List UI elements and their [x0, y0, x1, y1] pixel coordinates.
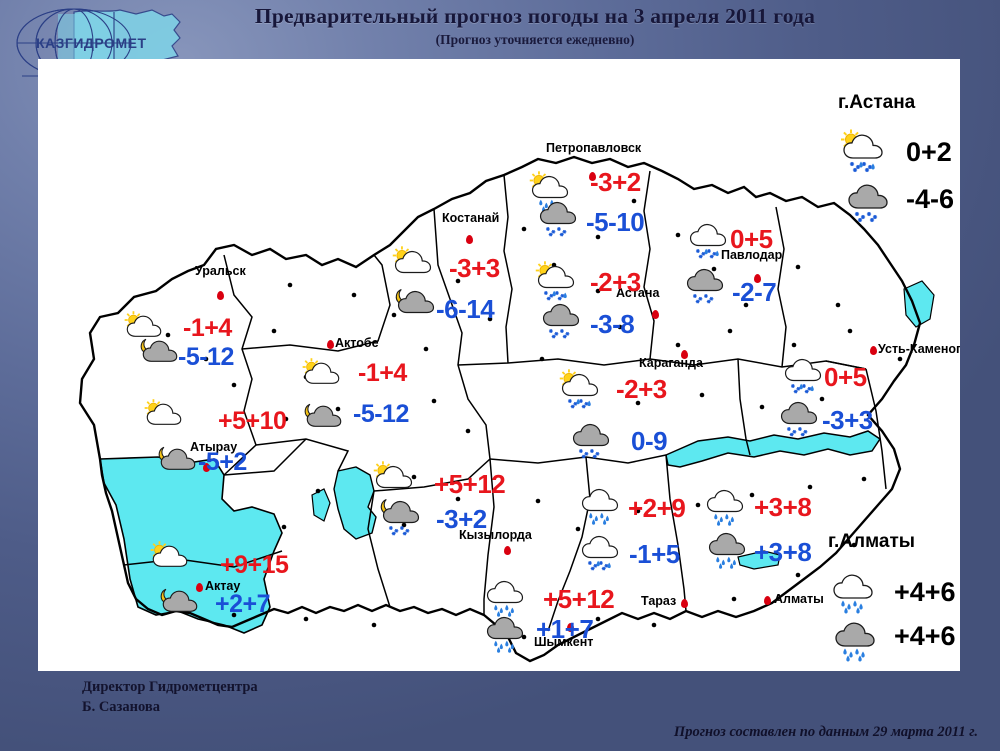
legend-day-temperature: +4+6: [894, 577, 956, 608]
night-temperature: -2-7: [732, 277, 776, 308]
city-marker-dot: [681, 599, 688, 608]
night-temperature: -3+3: [822, 405, 873, 436]
legend-night-cloud-rain-night-icon: [830, 615, 880, 668]
sun-cloud-snow-rain-icon: [838, 127, 888, 175]
day-cloud-snow-rain-icon: [685, 217, 731, 266]
night-temperature: +3+8: [754, 537, 811, 568]
cloud-snow-icon: [568, 417, 614, 461]
day-temperature: +9+15: [220, 551, 288, 580]
city-label-12: Алматы: [774, 592, 824, 606]
moon-cloud-snow-icon: [378, 494, 424, 538]
legend-day-sun-cloud-snow-rain-icon: [838, 127, 888, 180]
city-marker-dot: [466, 235, 473, 244]
day-temperature: -1+4: [183, 314, 232, 343]
day-temperature: +5+10: [218, 407, 286, 436]
city-marker-dot: [764, 596, 771, 605]
city-marker-dot: [652, 310, 659, 319]
day-temperature: -2+3: [590, 267, 641, 298]
night-temperature: -5-10: [586, 207, 644, 238]
night-temperature: -5-12: [178, 343, 234, 372]
page-subtitle: (Прогноз уточняется ежедневно): [185, 32, 885, 48]
sun-cloud-icon: [300, 356, 344, 398]
lake-balkhash: [666, 431, 880, 467]
moon-cloud-icon: [138, 334, 182, 376]
cloud-snow-icon: [535, 195, 581, 239]
legend-night-temperature: -4-6: [906, 184, 954, 215]
day-temperature: -3+2: [590, 167, 641, 198]
cloud-snow-rain-icon: [685, 217, 731, 261]
director-name: Б. Сазанова: [82, 698, 258, 718]
legend-title-1: г.Алматы: [828, 531, 915, 553]
day-cloud-rain-icon: [577, 482, 623, 531]
day-temperature: -2+3: [616, 374, 667, 405]
moon-cloud-icon: [156, 442, 200, 484]
night-cloud-snow-icon: [538, 297, 584, 346]
moon-cloud-icon: [158, 584, 202, 626]
night-temperature: +2+7: [215, 590, 270, 619]
night-temperature: -3+2: [436, 504, 487, 535]
legend-title-0: г.Астана: [838, 92, 915, 114]
night-cloud-snow-icon: [776, 395, 822, 444]
night-temperature: -1+5: [629, 539, 680, 570]
night-cloud-rain-snow-icon: [577, 529, 623, 578]
issued-note: Прогноз составлен по данным 29 марта 201…: [674, 724, 978, 741]
night-cloud-rain-night-icon: [482, 610, 528, 659]
night-cloud-snow-icon: [682, 262, 728, 311]
night-moon-cloud-icon: [302, 399, 346, 446]
night-moon-cloud-icon: [156, 442, 200, 489]
legend-day-cloud-rain-icon: [828, 567, 878, 620]
night-moon-cloud-snow-icon: [378, 494, 424, 543]
city-marker-dot: [504, 546, 511, 555]
night-moon-cloud-icon: [158, 584, 202, 631]
day-temperature: +2+9: [628, 493, 685, 524]
day-cloud-rain-icon: [702, 483, 748, 532]
city-label-0: Петропавловск: [546, 141, 641, 155]
cloud-rain-night-icon: [482, 610, 528, 654]
legend-night-temperature: +4+6: [894, 621, 956, 652]
day-temperature: -3+3: [449, 253, 500, 284]
day-sun-cloud-snow-rain-icon: [557, 367, 603, 416]
legend-day-temperature: 0+2: [906, 137, 952, 168]
night-temperature: -5-12: [353, 400, 409, 429]
aral-sea: [334, 467, 376, 539]
cloud-snow-icon: [843, 177, 893, 225]
night-temperature: -3-8: [590, 309, 634, 340]
day-cloud-snow-rain-icon: [780, 352, 826, 401]
city-label-11: Тараз: [641, 594, 676, 608]
page-title: Предварительный прогноз погоды на 3 апре…: [185, 4, 885, 29]
day-sun-cloud-icon: [142, 397, 186, 444]
cloud-rain-icon: [828, 567, 878, 615]
moon-cloud-icon: [393, 284, 439, 328]
night-moon-cloud-icon: [138, 334, 182, 381]
night-temperature: -5+2: [198, 448, 247, 477]
city-label-7: Усть-Каменогорск: [878, 342, 960, 356]
logo-text: КАЗГИДРОМЕТ: [36, 35, 147, 51]
sun-cloud-icon: [390, 244, 436, 288]
legend-night-cloud-snow-icon: [843, 177, 893, 230]
night-cloud-rain-night-icon: [704, 526, 750, 575]
night-temperature: -6-14: [436, 294, 494, 325]
director-signature: Директор Гидрометцентра Б. Сазанова: [82, 678, 258, 717]
night-temperature: 0-9: [631, 426, 667, 457]
city-marker-dot: [217, 291, 224, 300]
cloud-snow-icon: [538, 297, 584, 341]
day-sun-cloud-icon: [300, 356, 344, 403]
day-temperature: -1+4: [358, 359, 407, 388]
day-temperature: +3+8: [754, 492, 811, 523]
cloud-rain-night-icon: [830, 615, 880, 663]
city-label-1: Костанай: [442, 211, 499, 225]
cloud-rain-icon: [702, 483, 748, 527]
cloud-snow-icon: [776, 395, 822, 439]
day-temperature: 0+5: [824, 362, 867, 393]
cloud-rain-icon: [577, 482, 623, 526]
day-temperature: +5+12: [543, 584, 614, 615]
title-block: Предварительный прогноз погоды на 3 апре…: [185, 4, 885, 48]
sun-cloud-icon: [148, 539, 192, 581]
day-temperature: 0+5: [730, 224, 773, 255]
day-sun-cloud-icon: [148, 539, 192, 586]
city-marker-dot: [870, 346, 877, 355]
city-marker-dot: [681, 350, 688, 359]
sun-cloud-snow-rain-icon: [557, 367, 603, 411]
cloud-rain-snow-icon: [577, 529, 623, 573]
director-title: Директор Гидрометцентра: [82, 678, 258, 698]
night-cloud-snow-icon: [535, 195, 581, 244]
city-label-6: Караганда: [639, 356, 703, 370]
moon-cloud-icon: [302, 399, 346, 441]
night-cloud-snow-icon: [568, 417, 614, 466]
cloud-rain-night-icon: [704, 526, 750, 570]
city-label-5: Актобе: [335, 336, 379, 350]
cloud-snow-rain-icon: [780, 352, 826, 396]
city-label-2: Уральск: [195, 264, 246, 278]
night-moon-cloud-icon: [393, 284, 439, 333]
sun-cloud-icon: [142, 397, 186, 439]
day-temperature: +5+12: [434, 469, 505, 500]
cloud-snow-icon: [682, 262, 728, 306]
weather-map-panel: ПетропавловскКостанайУральскАстанаПавлод…: [38, 59, 960, 671]
city-marker-dot: [327, 340, 334, 349]
night-temperature: +1+7: [536, 614, 593, 645]
